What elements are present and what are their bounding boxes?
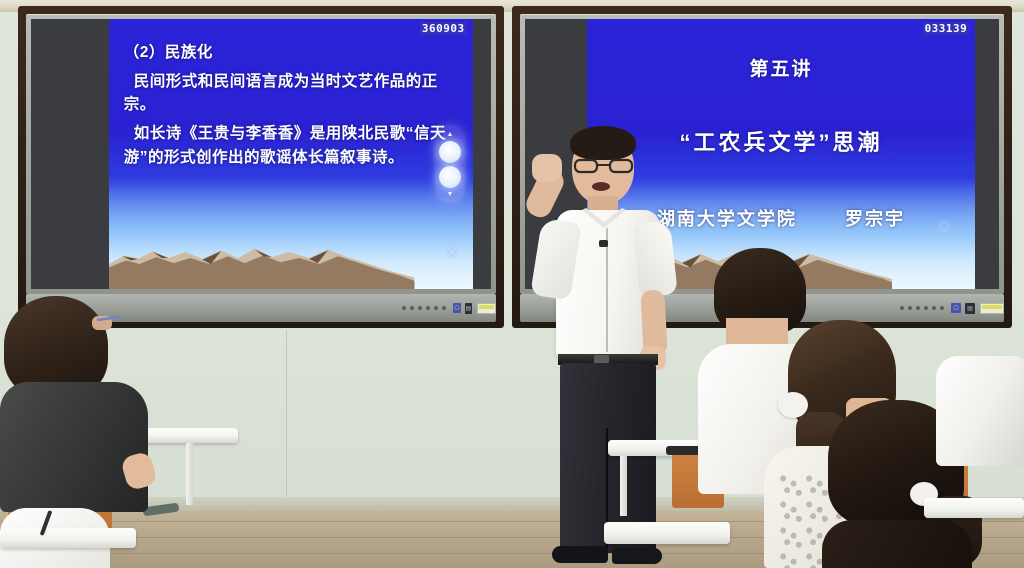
bezel-button-6[interactable] bbox=[940, 306, 944, 310]
desk-foreground-right bbox=[924, 498, 1024, 518]
left-slide-paragraph-1: 民间形式和民间语言成为当时文艺作品的正宗。 bbox=[124, 70, 458, 117]
bezel-button-5[interactable] bbox=[932, 306, 936, 310]
hdmi-port-icon[interactable]: ▤ bbox=[465, 303, 472, 314]
right-slide-number: 033139 bbox=[923, 22, 970, 35]
left-slide-heading: （2）民族化 bbox=[124, 41, 458, 64]
osd-up-label[interactable]: ▲ bbox=[447, 131, 454, 138]
student-top bbox=[822, 520, 972, 568]
bezel-button-1[interactable] bbox=[402, 306, 406, 310]
osd-control-pill[interactable]: ▲ ▼ bbox=[435, 125, 465, 203]
bezel-button-2[interactable] bbox=[908, 306, 912, 310]
lecturer-mouth bbox=[592, 182, 610, 191]
gear-icon[interactable] bbox=[935, 217, 953, 235]
student-top bbox=[936, 356, 1024, 466]
gear-icon[interactable] bbox=[443, 243, 461, 261]
bezel-button-3[interactable] bbox=[418, 306, 422, 310]
desk-foreground-left bbox=[0, 528, 136, 548]
osd-knob-lower[interactable] bbox=[439, 166, 461, 188]
lecturer-hair bbox=[570, 126, 636, 160]
lecturer-sleeve-right bbox=[632, 220, 678, 298]
mountain-graphic bbox=[109, 230, 414, 289]
left-slide-content: （2）民族化 民间形式和民间语言成为当时文艺作品的正宗。 如长诗《王贵与李香香》… bbox=[124, 41, 458, 169]
right-slide-lecturer-name: 罗宗宇 bbox=[845, 209, 905, 229]
bezel-button-5[interactable] bbox=[434, 306, 438, 310]
glasses-icon bbox=[96, 314, 122, 328]
desk-leg bbox=[186, 443, 193, 505]
left-display-bezel: 360903 （2）民族化 民间形式和民间语言成为当时文艺作品的正宗。 如长诗《… bbox=[26, 14, 496, 294]
glasses-icon bbox=[572, 156, 636, 174]
bezel-button-6[interactable] bbox=[442, 306, 446, 310]
bezel-button-4[interactable] bbox=[924, 306, 928, 310]
osd-knob-upper[interactable] bbox=[439, 141, 461, 163]
device-label-sticker bbox=[477, 303, 496, 314]
shirt-collar bbox=[578, 208, 630, 238]
left-display-panel[interactable]: 360903 （2）民族化 民间形式和民间语言成为当时文艺作品的正宗。 如长诗《… bbox=[31, 19, 491, 289]
left-bezel-button-row[interactable] bbox=[402, 306, 446, 310]
desk-foreground-center bbox=[604, 522, 730, 544]
student-top bbox=[0, 382, 148, 512]
right-bezel-button-row[interactable] bbox=[900, 306, 944, 310]
usb-port-icon[interactable]: ⎔ bbox=[951, 303, 961, 313]
lecturer-shoe-left bbox=[552, 546, 608, 563]
bezel-button-4[interactable] bbox=[426, 306, 430, 310]
left-display-unit[interactable]: 360903 （2）民族化 民间形式和民间语言成为当时文艺作品的正宗。 如长诗《… bbox=[18, 6, 504, 328]
bezel-button-1[interactable] bbox=[900, 306, 904, 310]
left-slide-paragraph-2: 如长诗《王贵与李香香》是用陕北民歌“信天游”的形式创作出的歌谣体长篇叙事诗。 bbox=[124, 122, 458, 169]
classroom-scene: 360903 （2）民族化 民间形式和民间语言成为当时文艺作品的正宗。 如长诗《… bbox=[0, 0, 1024, 568]
student-far-right bbox=[936, 356, 1024, 496]
bezel-button-2[interactable] bbox=[410, 306, 414, 310]
hdmi-port-icon[interactable]: ▤ bbox=[965, 303, 974, 314]
lecturer-hand-left bbox=[532, 154, 562, 182]
device-label-sticker bbox=[980, 303, 1004, 314]
right-slide-line-1: 第五讲 bbox=[587, 54, 976, 81]
clip-on-microphone bbox=[599, 240, 608, 247]
osd-down-label[interactable]: ▼ bbox=[447, 191, 454, 198]
left-slide-number: 360903 bbox=[420, 22, 467, 35]
left-slide: 360903 （2）民族化 民间形式和民间语言成为当时文艺作品的正宗。 如长诗《… bbox=[109, 19, 472, 289]
desk-leg bbox=[620, 456, 627, 516]
usb-port-icon[interactable]: ⎔ bbox=[453, 303, 461, 313]
lecturer-shoe-right bbox=[612, 548, 662, 564]
bezel-button-3[interactable] bbox=[916, 306, 920, 310]
